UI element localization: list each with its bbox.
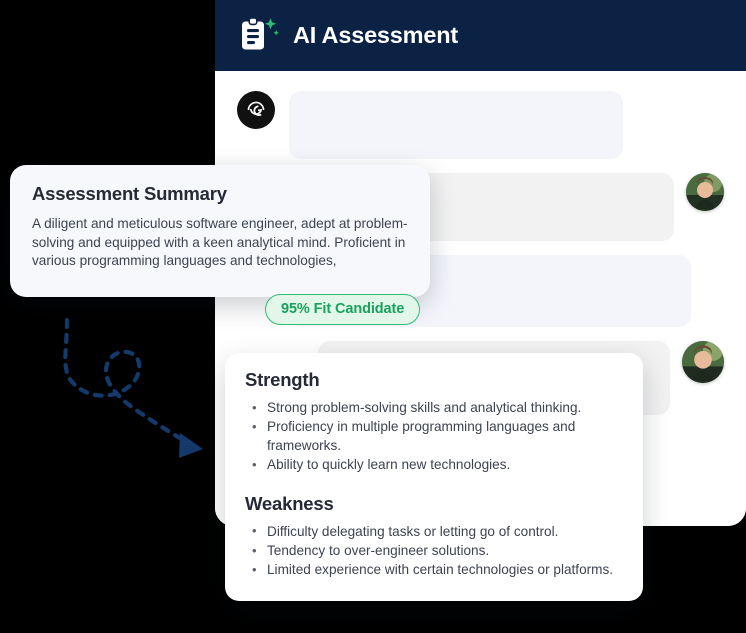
list-item: Proficiency in multiple programming lang…	[245, 418, 623, 455]
fit-candidate-badge: 95% Fit Candidate	[265, 294, 420, 325]
strength-weakness-card: Strength Strong problem-solving skills a…	[225, 353, 643, 601]
list-item: Ability to quickly learn new technologie…	[245, 456, 623, 474]
clipboard-sparkle-icon	[239, 15, 283, 57]
strength-list: Strong problem-solving skills and analyt…	[245, 399, 623, 475]
message-bubble-skeleton	[289, 91, 623, 159]
list-item: Difficulty delegating tasks or letting g…	[245, 523, 623, 541]
assessment-summary-body: A diligent and meticulous software engin…	[32, 215, 408, 271]
dashed-curved-arrow-icon	[40, 318, 230, 503]
app-header: AI Assessment	[215, 0, 746, 71]
page-title: AI Assessment	[293, 22, 458, 49]
weakness-heading: Weakness	[245, 493, 623, 515]
strength-heading: Strength	[245, 369, 623, 391]
list-item: Tendency to over-engineer solutions.	[245, 542, 623, 560]
assessment-summary-card: Assessment Summary A diligent and meticu…	[10, 165, 430, 297]
list-item: Limited experience with certain technolo…	[245, 561, 623, 579]
list-item: Strong problem-solving skills and analyt…	[245, 399, 623, 417]
user-photo-avatar	[686, 173, 724, 211]
chat-message-bot	[237, 91, 724, 159]
weakness-list: Difficulty delegating tasks or letting g…	[245, 523, 623, 580]
brand-logo-avatar	[237, 91, 275, 129]
user-photo-avatar	[682, 341, 724, 383]
assessment-summary-title: Assessment Summary	[32, 183, 408, 205]
